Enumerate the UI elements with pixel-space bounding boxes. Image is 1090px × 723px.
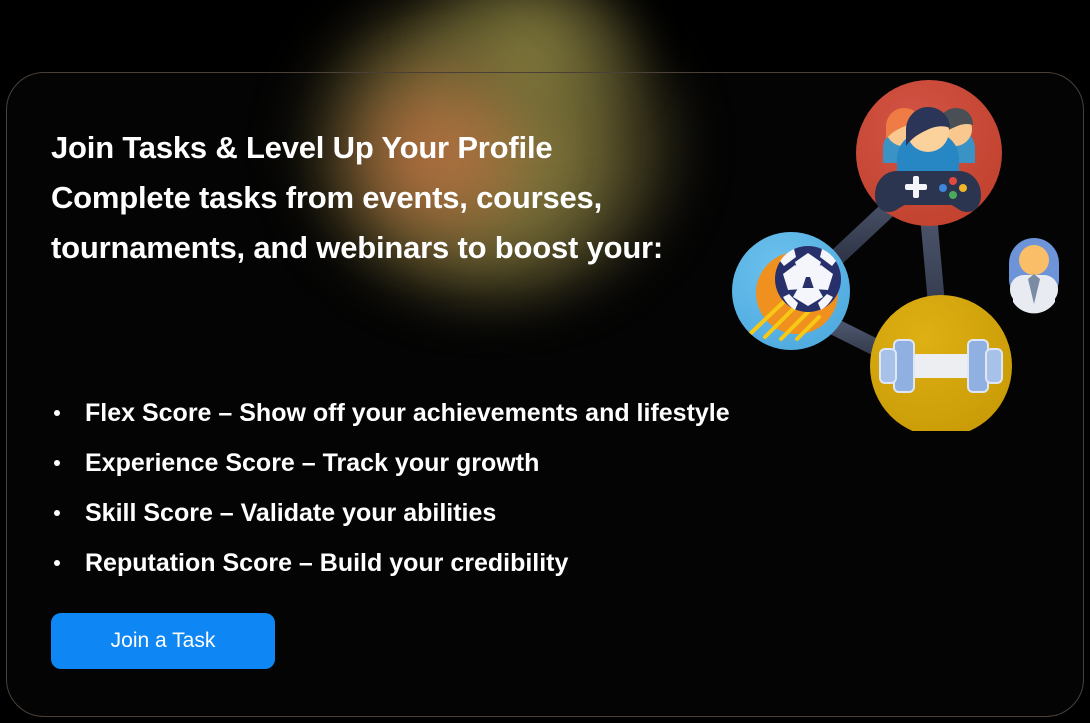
bullet-dot-icon xyxy=(54,560,60,566)
fitness-node xyxy=(870,295,1012,431)
bullet-dot-icon xyxy=(54,460,60,466)
bullet-dot-icon xyxy=(54,410,60,416)
list-item: Skill Score – Validate your abilities xyxy=(51,488,730,538)
gamers-node xyxy=(856,80,1002,226)
profile-avatar-node xyxy=(1009,238,1059,313)
list-item: Flex Score – Show off your achievements … xyxy=(51,388,730,438)
list-item: Experience Score – Track your growth xyxy=(51,438,730,488)
page-title: Join Tasks & Level Up Your Profile Compl… xyxy=(51,123,691,273)
glow-olive-blob-top-inner xyxy=(431,72,641,121)
soccer-node xyxy=(732,232,850,350)
promo-card: Join Tasks & Level Up Your Profile Compl… xyxy=(6,72,1084,717)
benefits-list: Flex Score – Show off your achievements … xyxy=(51,388,730,588)
list-item: Reputation Score – Build your credibilit… xyxy=(51,538,730,588)
activity-network-illustration xyxy=(707,72,1084,431)
card-text-block: Join Tasks & Level Up Your Profile Compl… xyxy=(51,123,751,273)
list-item-label: Experience Score – Track your growth xyxy=(85,449,539,477)
join-a-task-button[interactable]: Join a Task xyxy=(51,613,275,669)
list-item-label: Skill Score – Validate your abilities xyxy=(85,499,496,527)
list-item-label: Reputation Score – Build your credibilit… xyxy=(85,549,568,577)
gamers-gamepad-icon xyxy=(875,107,981,212)
promo-card-screen: Join Tasks & Level Up Your Profile Compl… xyxy=(0,0,1090,723)
list-item-label: Flex Score – Show off your achievements … xyxy=(85,399,730,427)
bullet-dot-icon xyxy=(54,510,60,516)
soccer-ball xyxy=(775,246,841,312)
